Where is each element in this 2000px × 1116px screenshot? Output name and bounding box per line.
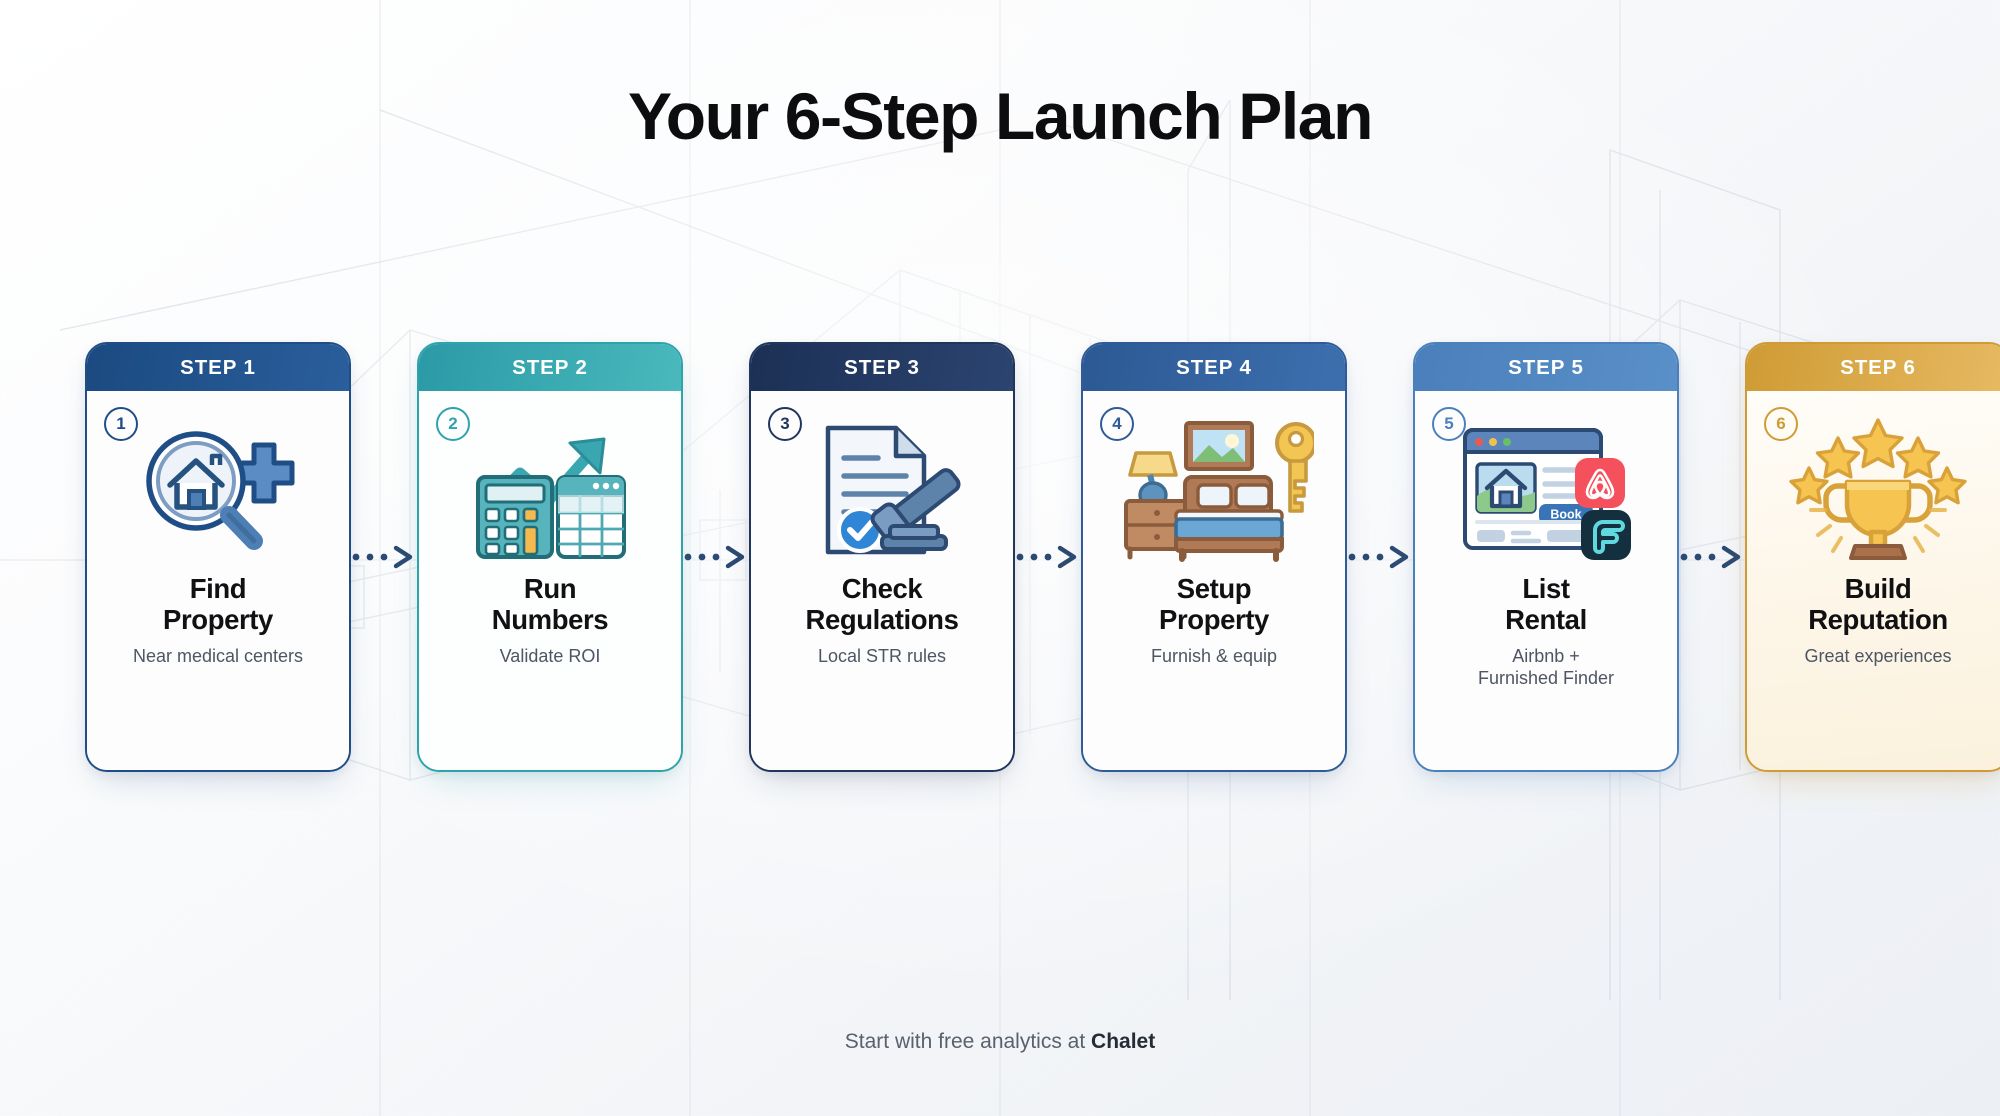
step-header-2: STEP 2 (419, 344, 681, 391)
step-header-3: STEP 3 (751, 344, 1013, 391)
svg-text:Book: Book (1550, 508, 1581, 522)
step-number-badge-1: 1 (104, 407, 138, 441)
step-title-line1-5: List (1522, 573, 1569, 604)
dotted-arrow-right-icon (351, 544, 417, 570)
step-number-badge-6: 6 (1764, 407, 1798, 441)
connector-5 (1679, 342, 1745, 772)
step-header-5: STEP 5 (1415, 344, 1677, 391)
step-title-1: Find Property (157, 573, 279, 636)
dotted-arrow-right-icon (1679, 544, 1745, 570)
step-header-6: STEP 6 (1747, 344, 2000, 391)
step-title-line2-3: Regulations (806, 604, 959, 635)
step-subtitle-3: Local STR rules (810, 646, 954, 668)
step-body-6: 6 (1747, 391, 2000, 770)
step-number-badge-5: 5 (1432, 407, 1466, 441)
step-subtitle-5: Airbnb + Furnished Finder (1470, 646, 1622, 690)
step-card-2[interactable]: STEP 2 2 (417, 342, 683, 772)
step-number-badge-4: 4 (1100, 407, 1134, 441)
connector-4 (1347, 342, 1413, 772)
step-body-4: 4 (1083, 391, 1345, 770)
step-title-4: Setup Property (1153, 573, 1275, 636)
connector-1 (351, 342, 417, 772)
step-header-1: STEP 1 (87, 344, 349, 391)
step-title-line1-4: Setup (1177, 573, 1251, 604)
page-title: Your 6-Step Launch Plan (0, 78, 2000, 154)
step-card-wrapper-3: STEP 3 3 (749, 342, 1015, 772)
step-header-4: STEP 4 (1083, 344, 1345, 391)
step-body-1: 1 (87, 391, 349, 770)
step-card-4[interactable]: STEP 4 4 (1081, 342, 1347, 772)
step-title-line1-6: Build (1845, 573, 1912, 604)
step-number-badge-2: 2 (436, 407, 470, 441)
dotted-arrow-right-icon (683, 544, 749, 570)
step-title-line2-6: Reputation (1808, 604, 1948, 635)
step-title-line2-5: Rental (1505, 604, 1587, 635)
step-body-5: 5 (1415, 391, 1677, 770)
footer-brand: Chalet (1091, 1030, 1155, 1053)
step-title-5: List Rental (1499, 573, 1593, 636)
step-title-3: Check Regulations (800, 573, 965, 636)
connector-2 (683, 342, 749, 772)
step-subtitle-line2-5: Furnished Finder (1478, 668, 1614, 688)
step-title-line2-2: Numbers (492, 604, 608, 635)
step-card-1[interactable]: STEP 1 1 (85, 342, 351, 772)
step-card-6[interactable]: STEP 6 6 (1745, 342, 2000, 772)
step-number-badge-3: 3 (768, 407, 802, 441)
step-title-line2-1: Property (163, 604, 273, 635)
step-card-wrapper-5: STEP 5 5 (1413, 342, 1679, 772)
step-title-line1-2: Run (524, 573, 576, 604)
dotted-arrow-right-icon (1347, 544, 1413, 570)
connector-3 (1015, 342, 1081, 772)
step-card-wrapper-1: STEP 1 1 (85, 342, 351, 772)
step-subtitle-6: Great experiences (1796, 646, 1959, 668)
step-title-6: Build Reputation (1802, 573, 1954, 636)
step-card-wrapper-4: STEP 4 4 (1081, 342, 1347, 772)
step-title-line1-3: Check (842, 573, 923, 604)
dotted-arrow-right-icon (1015, 544, 1081, 570)
step-subtitle-1: Near medical centers (125, 646, 311, 668)
step-title-line2-4: Property (1159, 604, 1269, 635)
step-card-wrapper-6: STEP 6 6 (1745, 342, 2000, 772)
step-body-2: 2 (419, 391, 681, 770)
footer-prefix: Start with free analytics at (845, 1030, 1091, 1053)
step-card-5[interactable]: STEP 5 5 (1413, 342, 1679, 772)
step-subtitle-2: Validate ROI (492, 646, 609, 668)
steps-row: STEP 1 1 (85, 342, 1915, 772)
footer-note: Start with free analytics at Chalet (0, 1030, 2000, 1054)
step-subtitle-line1-5: Airbnb + (1512, 646, 1580, 666)
step-title-2: Run Numbers (486, 573, 614, 636)
step-subtitle-4: Furnish & equip (1143, 646, 1285, 668)
step-card-3[interactable]: STEP 3 3 (749, 342, 1015, 772)
step-body-3: 3 (751, 391, 1013, 770)
step-card-wrapper-2: STEP 2 2 (417, 342, 683, 772)
step-title-line1-1: Find (190, 573, 246, 604)
